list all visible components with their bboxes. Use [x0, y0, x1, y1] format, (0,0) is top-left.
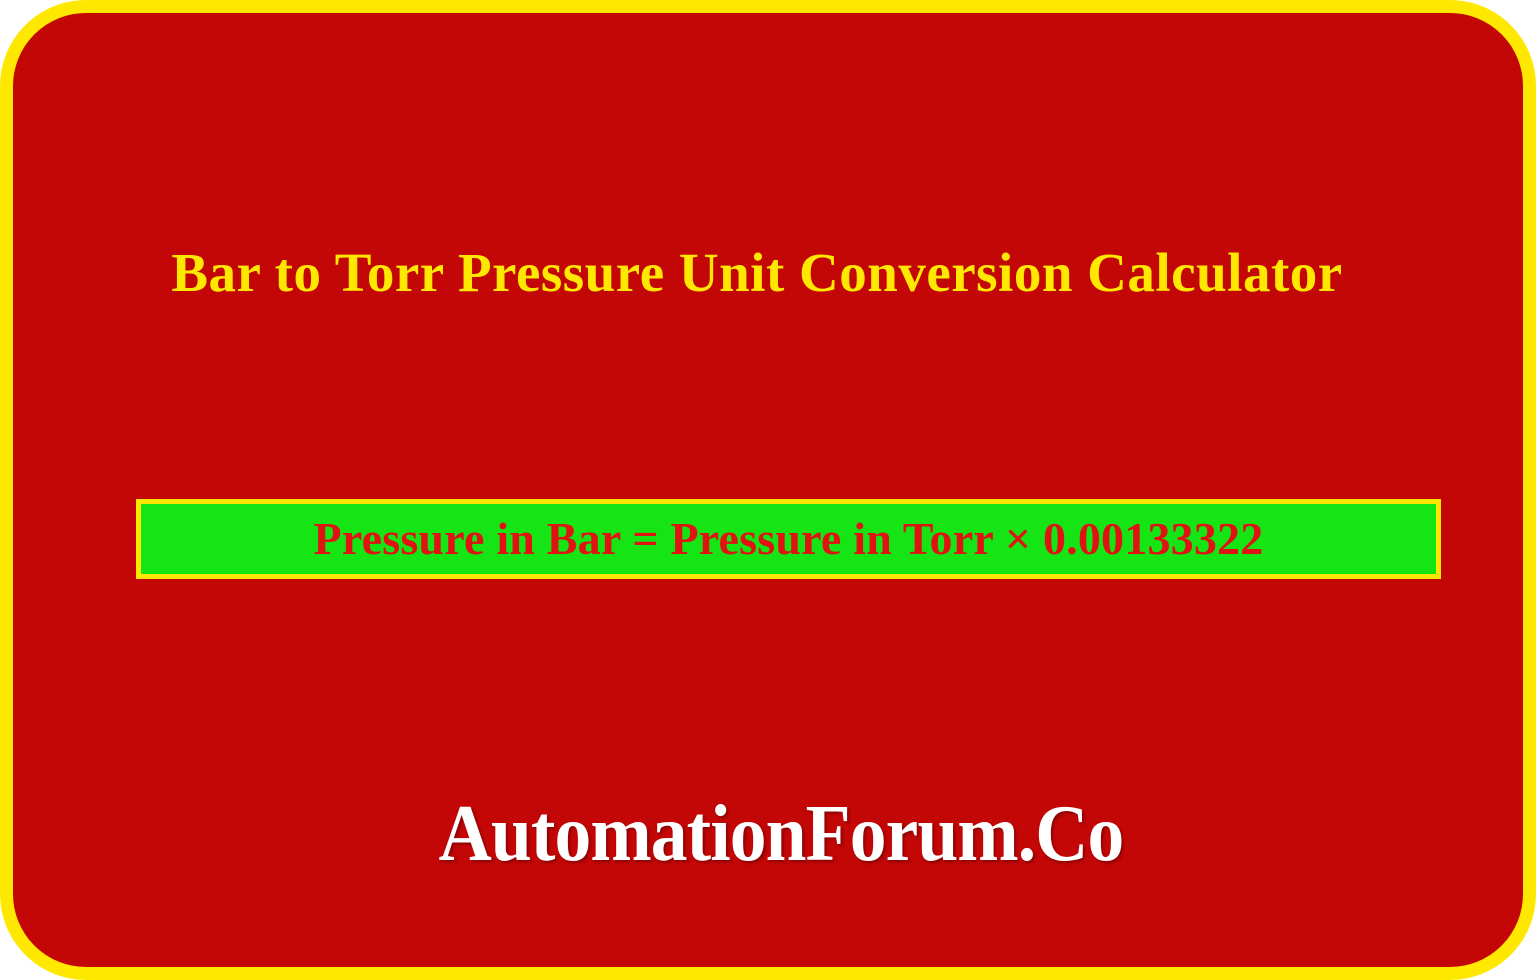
formula-banner: Pressure in Bar = Pressure in Torr × 0.0… [136, 499, 1441, 579]
conversion-formula-text: Pressure in Bar = Pressure in Torr × 0.0… [314, 513, 1264, 565]
conversion-calculator-card: Bar to Torr Pressure Unit Conversion Cal… [0, 0, 1536, 980]
site-watermark: AutomationForum.Co [74, 789, 1487, 879]
page-title: Bar to Torr Pressure Unit Conversion Cal… [161, 238, 1353, 308]
